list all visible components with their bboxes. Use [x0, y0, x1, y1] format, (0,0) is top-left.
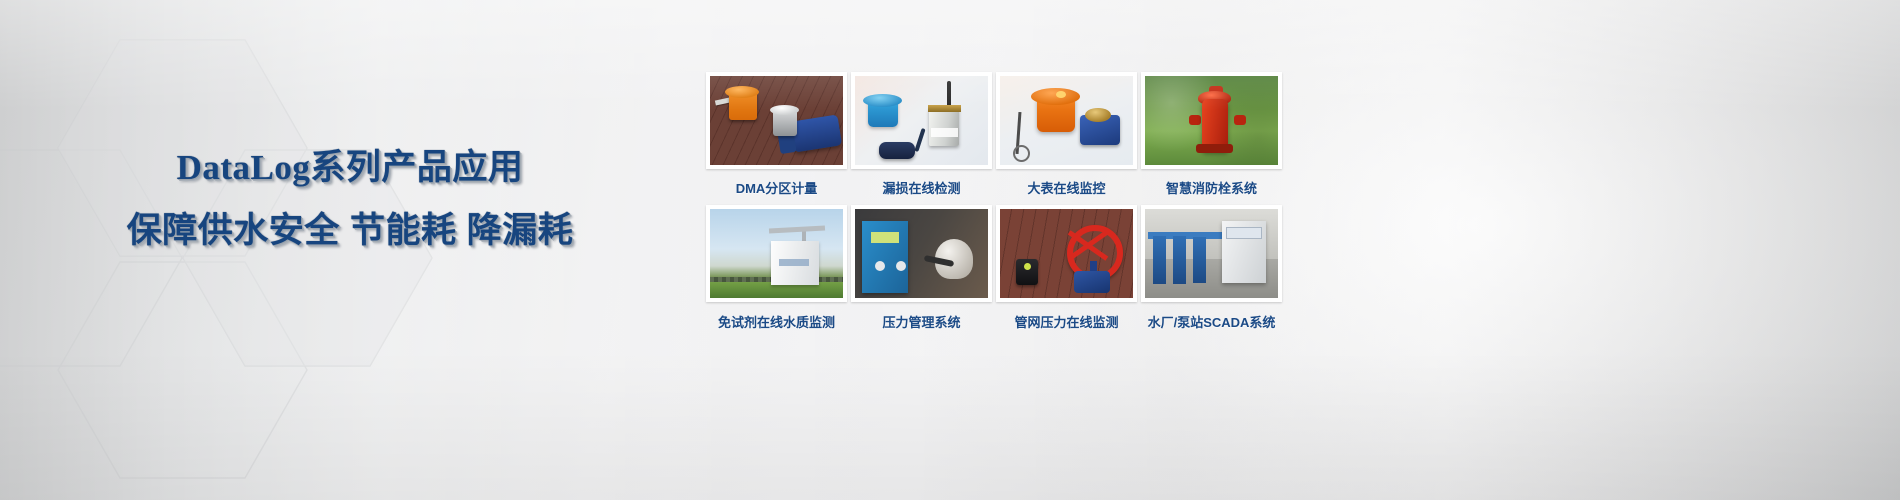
hexagon-watermark — [0, 0, 640, 500]
product-card-pressure-management[interactable]: 压力管理系统 — [851, 205, 992, 331]
product-card-label: 智慧消防栓系统 — [1141, 178, 1282, 197]
headline-line-2: 保障供水安全 节能耗 降漏耗 — [0, 213, 700, 248]
scada-system-photo — [1145, 209, 1278, 298]
product-card-dma-metering[interactable]: DMA分区计量 — [706, 72, 847, 197]
product-card-smart-hydrant[interactable]: 智慧消防栓系统 — [1141, 72, 1282, 197]
product-thumbnail — [851, 205, 992, 302]
product-thumbnail — [996, 72, 1137, 169]
product-card-large-meter-monitor[interactable]: 大表在线监控 — [996, 72, 1137, 197]
product-thumbnail — [996, 205, 1137, 302]
product-card-label: 压力管理系统 — [851, 312, 992, 331]
headline-brand: DataLog — [177, 148, 311, 187]
product-card-reagent-free-quality[interactable]: 免试剂在线水质监测 — [706, 205, 847, 331]
product-card-label: 大表在线监控 — [996, 178, 1137, 197]
leak-online-detect-photo — [855, 76, 988, 165]
product-thumbnail — [706, 205, 847, 302]
network-pressure-photo — [1000, 209, 1133, 298]
product-card-label: DMA分区计量 — [706, 178, 847, 197]
product-card-network-pressure[interactable]: 管网压力在线监测 — [996, 205, 1137, 331]
product-card-label: 管网压力在线监测 — [996, 312, 1137, 331]
product-thumbnail — [1141, 72, 1282, 169]
product-thumbnail — [706, 72, 847, 169]
product-application-banner: DataLog系列产品应用 保障供水安全 节能耗 降漏耗 DMA分区计量 — [0, 0, 1900, 500]
headline-line-1: DataLog系列产品应用 — [0, 150, 700, 185]
large-meter-monitor-photo — [1000, 76, 1133, 165]
dma-metering-photo — [710, 76, 843, 165]
product-thumbnail — [1141, 205, 1282, 302]
pressure-management-photo — [855, 209, 988, 298]
headline-line-1-cn: 系列产品应用 — [310, 148, 523, 187]
product-card-label: 免试剂在线水质监测 — [706, 312, 847, 331]
smart-hydrant-photo — [1145, 76, 1278, 165]
product-card-scada-system[interactable]: 水厂/泵站SCADA系统 — [1141, 205, 1282, 331]
reagent-free-quality-photo — [710, 209, 843, 298]
product-thumbnail — [851, 72, 992, 169]
product-card-grid: DMA分区计量 漏损在线检测 大表在线监控 — [706, 72, 1282, 331]
product-card-label: 漏损在线检测 — [851, 178, 992, 197]
headline-block: DataLog系列产品应用 保障供水安全 节能耗 降漏耗 — [0, 150, 700, 248]
product-card-leak-online-detect[interactable]: 漏损在线检测 — [851, 72, 992, 197]
product-card-label: 水厂/泵站SCADA系统 — [1141, 312, 1282, 331]
